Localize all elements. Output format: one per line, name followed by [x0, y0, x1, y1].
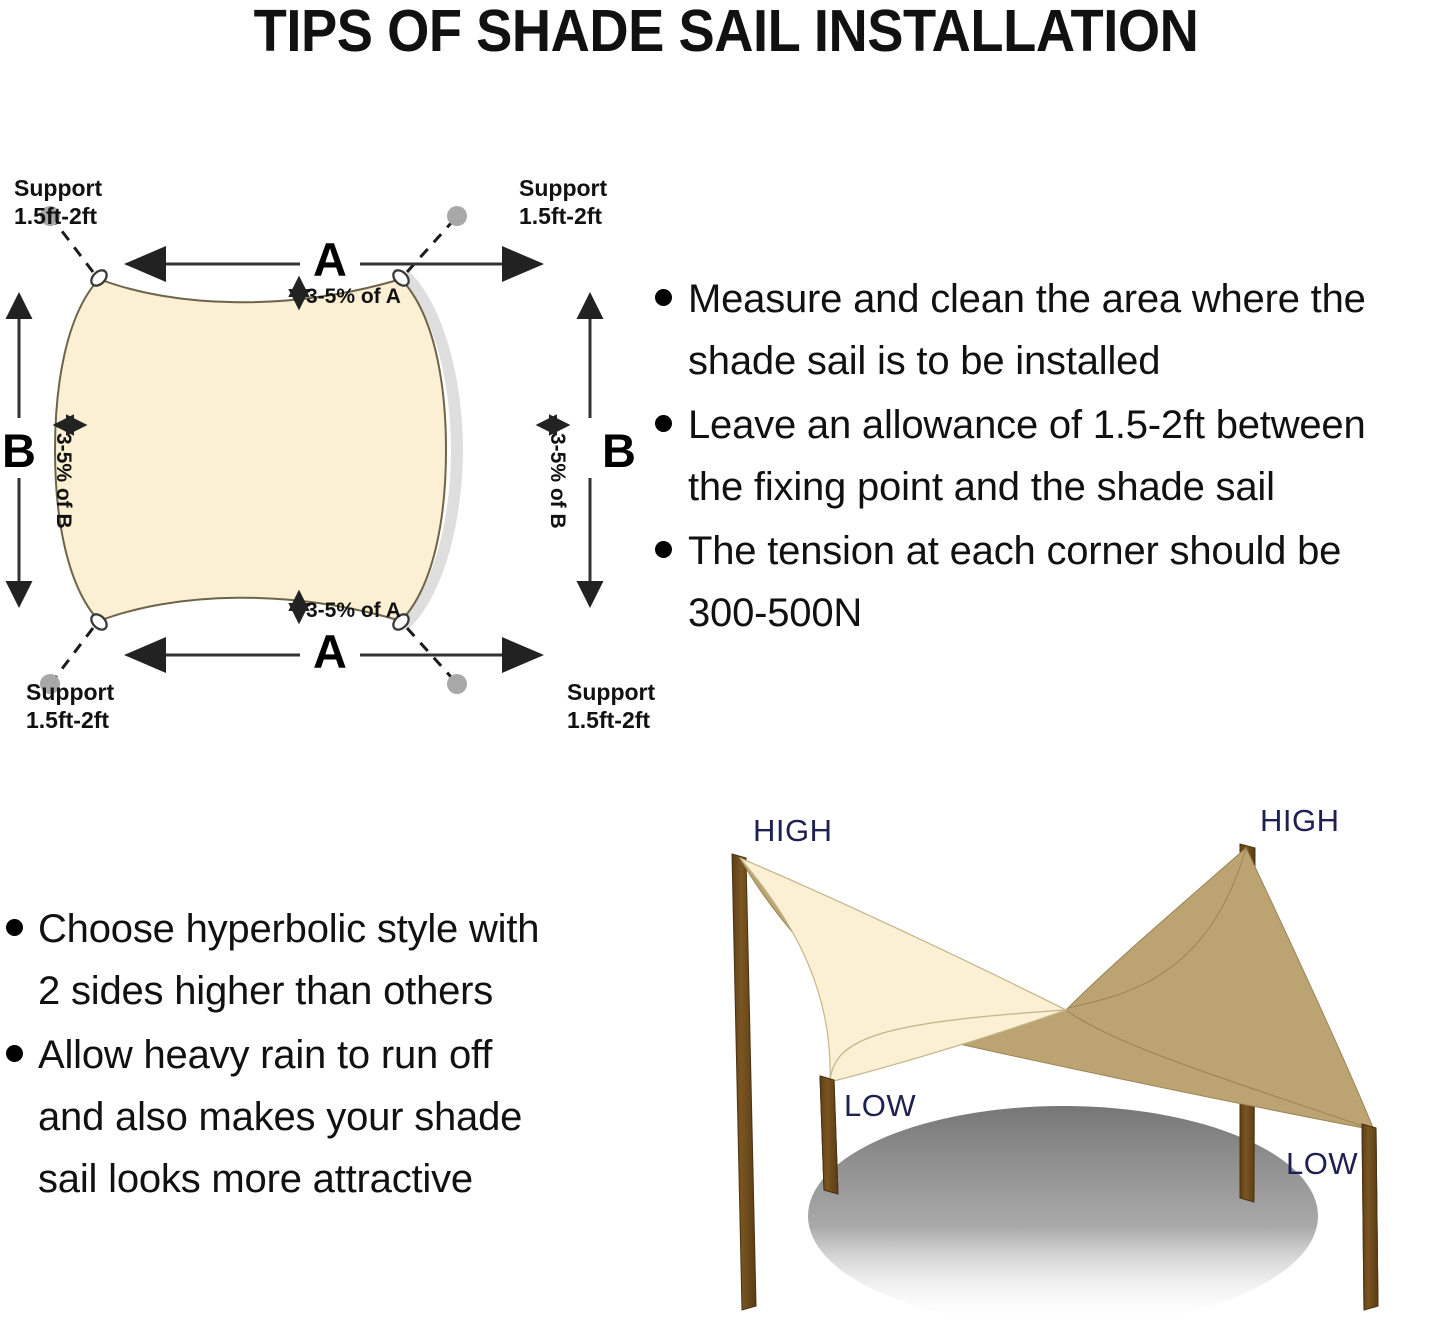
support-label-line2: 1.5ft-2ft — [567, 707, 650, 730]
curve-label-right: 3-5% of B — [546, 433, 569, 529]
dimension-label-bottom-a: A — [313, 625, 347, 678]
bullet-dot-icon — [655, 541, 672, 558]
installation-tips-top-list: Measure and clean the area where the sha… — [655, 268, 1452, 646]
support-label-bottom-left: Support 1.5ft-2ft — [26, 679, 114, 730]
bullet-dot-icon — [655, 415, 672, 432]
tip-line: Leave an allowance of 1.5-2ft between — [688, 394, 1366, 456]
support-label-line2: 1.5ft-2ft — [14, 203, 97, 229]
shade-sail-shape — [55, 279, 446, 621]
post-low-right-front — [1362, 1124, 1378, 1310]
support-label-line2: 1.5ft-2ft — [26, 707, 109, 730]
list-item: Leave an allowance of 1.5-2ft between th… — [655, 394, 1452, 518]
bullet-dot-icon — [6, 919, 23, 936]
label-high-left: HIGH — [753, 813, 833, 848]
post-low-left-front — [820, 1076, 838, 1194]
list-item: Allow heavy rain to run off and also mak… — [6, 1024, 636, 1210]
support-label-line2: 1.5ft-2ft — [519, 203, 602, 229]
tip-line: sail looks more attractive — [38, 1148, 522, 1210]
label-high-right: HIGH — [1260, 803, 1340, 838]
curve-label-top: 3-5% of A — [306, 285, 401, 308]
hyperbolic-sail-diagram: HIGH HIGH LOW LOW — [648, 786, 1452, 1325]
bullet-dot-icon — [655, 289, 672, 306]
list-item: Measure and clean the area where the sha… — [655, 268, 1452, 392]
dimension-label-top-a: A — [313, 233, 347, 286]
curve-label-left: 3-5% of B — [52, 433, 75, 529]
label-low-left: LOW — [844, 1088, 916, 1123]
support-label-line1: Support — [26, 679, 114, 705]
post-high-left — [732, 854, 756, 1310]
tip-line: Allow heavy rain to run off — [38, 1024, 522, 1086]
label-low-right: LOW — [1286, 1146, 1358, 1181]
curve-label-bottom: 3-5% of A — [306, 599, 401, 622]
support-label-line1: Support — [14, 175, 102, 201]
tip-line: Measure and clean the area where the — [688, 268, 1366, 330]
page-title: TIPS OF SHADE SAIL INSTALLATION — [58, 2, 1394, 61]
rectangular-sail-diagram: Support 1.5ft-2ft Support 1.5ft-2ft Supp… — [0, 160, 660, 730]
dimension-label-right-b: B — [602, 424, 636, 477]
tip-line: Choose hyperbolic style with — [38, 898, 539, 960]
bullet-dot-icon — [6, 1045, 23, 1062]
list-item: The tension at each corner should be 300… — [655, 520, 1452, 644]
support-label-bottom-right: Support 1.5ft-2ft — [567, 679, 655, 730]
tip-line: the fixing point and the shade sail — [688, 456, 1366, 518]
tip-line: shade sail is to be installed — [688, 330, 1366, 392]
installation-tips-bottom-list: Choose hyperbolic style with 2 sides hig… — [6, 898, 636, 1212]
support-label-top-left: Support 1.5ft-2ft — [14, 175, 102, 229]
list-item: Choose hyperbolic style with 2 sides hig… — [6, 898, 636, 1022]
dimension-label-left-b: B — [2, 424, 36, 477]
tip-line: and also makes your shade — [38, 1086, 522, 1148]
support-label-line1: Support — [519, 175, 607, 201]
tip-line: 300-500N — [688, 582, 1341, 644]
support-label-top-right: Support 1.5ft-2ft — [519, 175, 607, 229]
support-label-line1: Support — [567, 679, 655, 705]
tip-line: The tension at each corner should be — [688, 520, 1341, 582]
tip-line: 2 sides higher than others — [38, 960, 539, 1022]
